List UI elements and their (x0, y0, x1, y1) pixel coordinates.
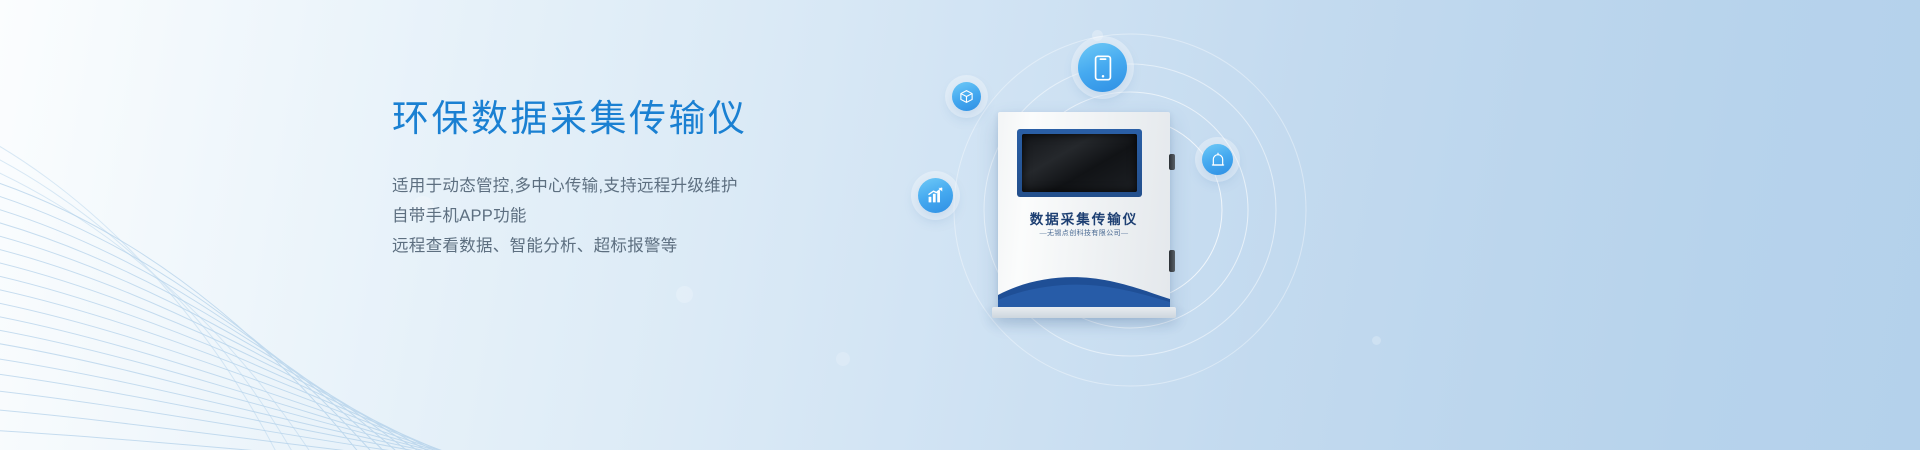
device-side-port-bottom (1169, 250, 1175, 272)
device-unit: 数据采集传输仪 —无锡点创科技有限公司— (998, 112, 1170, 309)
hero-banner: 环保数据采集传输仪 适用于动态管控,多中心传输,支持远程升级维护 自带手机APP… (0, 0, 1920, 450)
badge-cube[interactable] (952, 82, 981, 111)
decorative-bubble (676, 286, 693, 303)
badge-phone[interactable] (1078, 43, 1127, 92)
device-sublabel: —无锡点创科技有限公司— (998, 228, 1170, 238)
device-base (992, 307, 1176, 318)
device-bezel (1017, 129, 1142, 197)
feature-list: 适用于动态管控,多中心传输,支持远程升级维护 自带手机APP功能 远程查看数据、… (392, 172, 912, 261)
badge-alarm[interactable] (1202, 144, 1233, 175)
feature-line-3: 远程查看数据、智能分析、超标报警等 (392, 232, 912, 261)
badge-chart[interactable] (918, 178, 953, 213)
product-visual: 数据采集传输仪 —无锡点创科技有限公司— (880, 0, 1400, 450)
device-wave-decoration (998, 269, 1170, 309)
chart-icon (926, 186, 945, 205)
page-title: 环保数据采集传输仪 (392, 92, 912, 146)
device-side-port-top (1169, 154, 1175, 170)
hero-copy: 环保数据采集传输仪 适用于动态管控,多中心传输,支持远程升级维护 自带手机APP… (392, 92, 912, 262)
feature-line-2: 自带手机APP功能 (392, 202, 912, 231)
cube-icon (959, 89, 974, 104)
phone-icon (1094, 55, 1112, 81)
alarm-icon (1210, 152, 1226, 168)
device-label: 数据采集传输仪 (998, 208, 1170, 228)
feature-line-1: 适用于动态管控,多中心传输,支持远程升级维护 (392, 172, 912, 201)
decorative-bubble (836, 352, 850, 366)
device-screen (1022, 134, 1137, 192)
